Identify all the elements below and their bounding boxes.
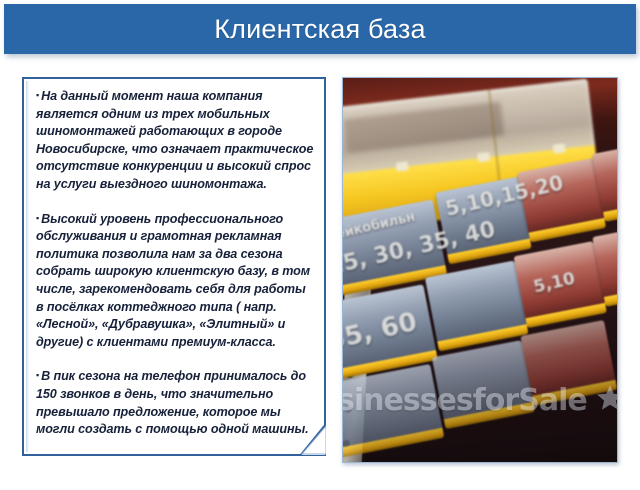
slide-title-banner: Клиентская база	[4, 4, 636, 54]
textbox-edge-highlight	[26, 81, 29, 452]
paragraph-2-text: Высокий уровень профессионального обслуж…	[36, 212, 310, 349]
photo-canvas: Лейкобильн 25, 30, 35, 40 5,10,15,20 5	[343, 78, 617, 462]
slide: Клиентская база ▪На данный момент наша к…	[0, 0, 640, 490]
paragraph-3-text: В пик сезона на телефон принималось до 1…	[36, 369, 309, 436]
content-text: ▪На данный момент наша компания является…	[36, 87, 316, 450]
bullet-icon: ▪	[36, 90, 39, 100]
paragraph-1: ▪На данный момент наша компания является…	[36, 87, 316, 194]
bullet-icon: ▪	[36, 213, 39, 223]
paragraph-3: ▪В пик сезона на телефон принималось до …	[36, 367, 316, 438]
page-title: Клиентская база	[214, 16, 426, 43]
slide-photo: Лейкобильн 25, 30, 35, 40 5,10,15,20 5	[342, 77, 618, 463]
paragraph-2: ▪Высокий уровень профессионального обслу…	[36, 210, 316, 352]
paragraph-1-text: На данный момент наша компания является …	[36, 89, 313, 191]
bullet-icon: ▪	[36, 370, 39, 380]
content-textbox: ▪На данный момент наша компания является…	[22, 77, 326, 456]
